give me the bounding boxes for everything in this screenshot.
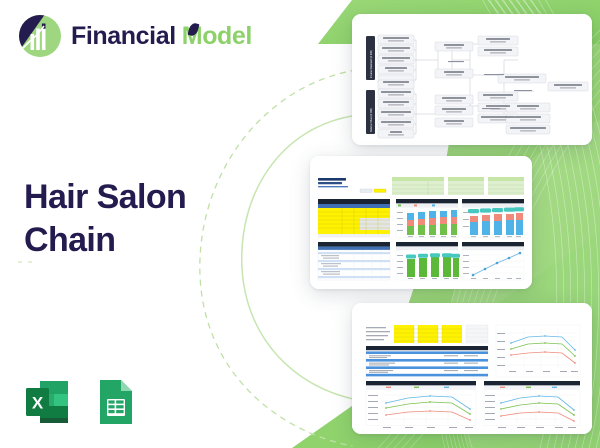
svg-text:Balance Sheet (€ 000): Balance Sheet (€ 000) bbox=[370, 108, 373, 132]
mockup-card-dupont-analysis[interactable]: Income Statement (€ 000) Balance Sheet (… bbox=[352, 14, 592, 145]
dupont-analysis-diagram: Income Statement (€ 000) Balance Sheet (… bbox=[352, 14, 592, 145]
financial-dashboard-mockup bbox=[310, 156, 532, 289]
file-format-icons: X bbox=[21, 376, 140, 428]
financial-model-circle-chart-logo bbox=[18, 14, 62, 58]
svg-text:Income Statement (€ 000): Income Statement (€ 000) bbox=[370, 50, 373, 78]
brand-name-part-1: Financial bbox=[71, 22, 176, 50]
page-title-line-2: Chain bbox=[24, 219, 284, 262]
slide-canvas: FinancialModel Hair Salon Chain X bbox=[0, 0, 600, 448]
projection-charts-mockup bbox=[352, 303, 592, 434]
google-sheets-icon[interactable] bbox=[88, 376, 140, 428]
line-chart-bottom-right bbox=[484, 389, 580, 428]
svg-text:X: X bbox=[32, 394, 44, 413]
microsoft-excel-icon[interactable]: X bbox=[21, 376, 73, 428]
page-title: Hair Salon Chain bbox=[24, 176, 284, 262]
brand-logo[interactable]: FinancialModel bbox=[18, 14, 252, 58]
brand-name-part-2: Model bbox=[182, 24, 252, 49]
brand-name: FinancialModel bbox=[71, 24, 252, 49]
page-title-line-1: Hair Salon bbox=[24, 176, 284, 219]
mockup-card-projection-charts[interactable] bbox=[352, 303, 592, 434]
line-chart-top-right bbox=[496, 325, 580, 377]
line-chart-bottom-left bbox=[366, 389, 476, 428]
mockup-card-dashboard[interactable] bbox=[310, 156, 532, 289]
